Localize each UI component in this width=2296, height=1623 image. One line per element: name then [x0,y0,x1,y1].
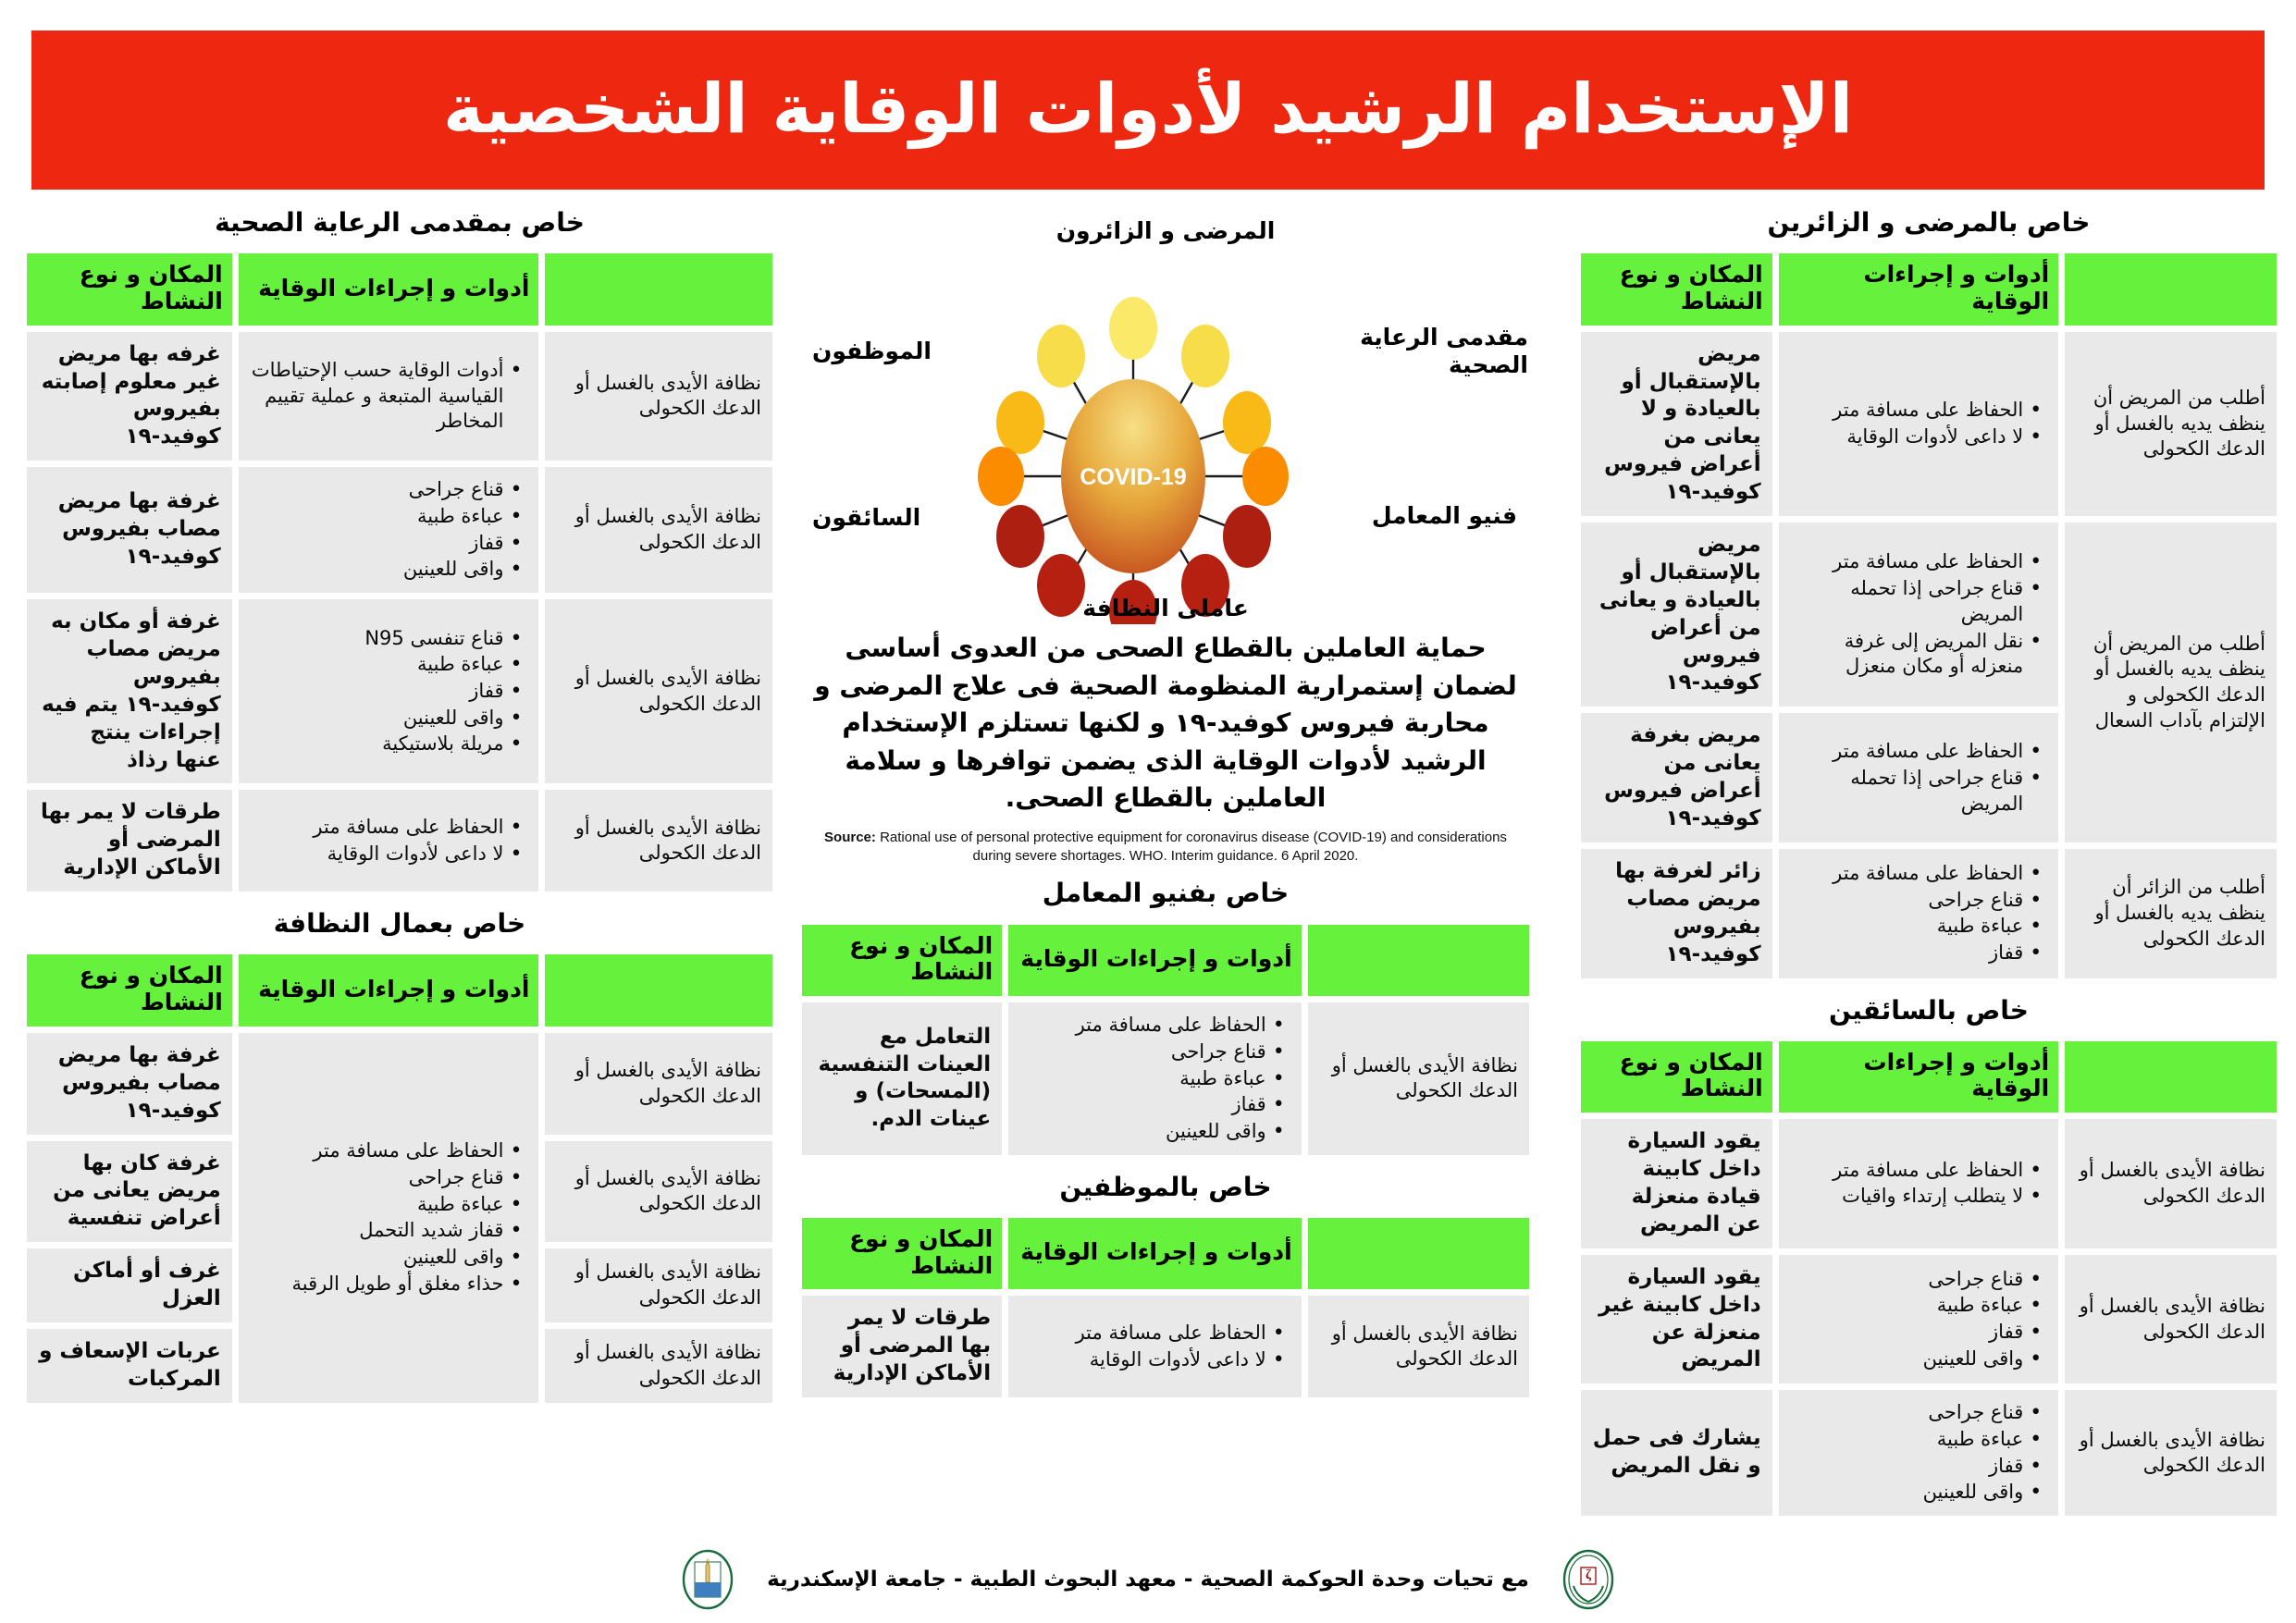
cell-ppe: الحفاظ على مسافة متر لا داعى لأدوات الوق… [1008,1296,1302,1397]
footer: ζ مع تحيات وحدة الحوكمة الصحية - معهد ال… [0,1549,2296,1610]
source-label: Source: [824,830,876,845]
header-activity: المكان و نوع النشاط [27,253,232,326]
table-row: نظافة الأيدى بالغسل أو الدعك الكحولى الح… [802,1296,1529,1397]
petal [1223,391,1271,454]
cell-activity: غرفه بها مريض غير معلوم إصابته بفيروس كو… [27,332,232,461]
ppe-list: قناع جراحى عباءة طبية قفاز واقى للعينين [1790,1400,2048,1506]
cell-ppe: الحفاظ على مسافة متر لا يتطلب إرتداء واق… [1779,1119,2059,1248]
cell-hand-hygiene: نظافة الأيدى بالغسل أو الدعك الكحولى [545,467,772,593]
ppe-item: عباءة طبية [250,652,504,678]
diagram-label-lab-technicians: فنيو المعامل [1341,502,1517,530]
table-row: أطلب من المريض أن ينظف يديه بالغسل أو ال… [1581,523,2277,707]
diagram-svg: COVID-19 [796,208,1536,624]
ppe-item: قناع جراحى [250,477,504,503]
ppe-item: لا داعى لأدوات الوقاية [1790,424,2024,450]
cell-activity: طرقات لا يمر بها المرضى أو الأماكن الإدا… [27,790,232,891]
table-row: نظافة الأيدى بالغسل أو الدعك الكحولى الح… [27,1033,772,1135]
header-activity: المكان و نوع النشاط [1581,253,1772,326]
medical-research-institute-logo: ζ [1562,1549,1614,1610]
section-title-staff: خاص بالموظفين [796,1173,1536,1202]
ppe-item: الحفاظ على مسافة متر [1790,398,2024,424]
ppe-item: عباءة طبية [1019,1066,1266,1092]
ppe-item: واقى للعينين [250,557,504,583]
ppe-item: مريلة بلاستيكية [250,732,504,757]
cell-ppe: الحفاظ على مسافة متر قناع جراحى عباءة طب… [1008,1002,1302,1155]
cell-hand-hygiene: نظافة الأيدى بالغسل أو الدعك الكحولى [545,1033,772,1135]
petal [1223,505,1271,568]
ppe-list: الحفاظ على مسافة متر قناع جراحى عباءة طب… [250,1138,528,1297]
ppe-item: واقى للعينين [250,706,504,732]
cell-ppe: قناع جراحى عباءة طبية قفاز واقى للعينين [1779,1255,2059,1384]
cell-ppe: الحفاظ على مسافة متر لا داعى لأدوات الوق… [1779,332,2059,516]
ppe-item: عباءة طبية [1790,1293,2024,1319]
ppe-item: الحفاظ على مسافة متر [1019,1321,1266,1346]
intro-paragraph: حماية العاملين بالقطاع الصحى من العدوى أ… [812,630,1519,818]
ppe-item: لا داعى لأدوات الوقاية [250,842,504,867]
ppe-item: قناع جراحى [1019,1039,1266,1065]
ppe-list: الحفاظ على مسافة متر لا داعى لأدوات الوق… [250,815,528,867]
header-activity: المكان و نوع النشاط [27,954,232,1027]
header-ppe: أدوات و إجراءات الوقاية [1779,253,2059,326]
header-blank [1308,925,1529,997]
cell-activity: غرفة كان بها مريض يعانى من أعراض تنفسية [27,1141,232,1243]
ppe-item: واقى للعينين [1790,1346,2024,1372]
cell-hand-hygiene: نظافة الأيدى بالغسل أو الدعك الكحولى [1308,1002,1529,1155]
ppe-item: واقى للعينين [250,1245,504,1271]
table-row: نظافة الأيدى بالغسل أو الدعك الكحولى قنا… [1581,1390,2277,1516]
header-activity: المكان و نوع النشاط [1581,1041,1772,1113]
table-header-row: أدوات و إجراءات الوقاية المكان و نوع الن… [27,954,772,1027]
petal [996,391,1044,454]
petal [1242,447,1289,506]
cell-hand-hygiene: نظافة الأيدى بالغسل أو الدعك الكحولى [2065,1390,2277,1516]
cell-ppe: الحفاظ على مسافة متر قناع جراحى إذا تحمل… [1779,523,2059,707]
diagram-label-staff: الموظفون [812,338,979,365]
cell-ppe: أدوات الوقاية حسب الإحتياطات القياسية ال… [239,332,539,461]
header-ppe: أدوات و إجراءات الوقاية [239,954,539,1027]
section-patients-visitors: خاص بالمرضى و الزائرين أدوات و إجراءات ا… [1574,208,2283,985]
ppe-item: الحفاظ على مسافة متر [1790,1158,2024,1184]
ppe-list: أدوات الوقاية حسب الإحتياطات القياسية ال… [250,358,528,435]
left-column: خاص بمقدمى الرعاية الصحية أدوات و إجراءا… [20,208,779,1420]
ppe-list: الحفاظ على مسافة متر لا داعى لأدوات الوق… [1019,1321,1290,1372]
cell-activity: مريض بغرفة يعانى من أعراض فيروس كوفيد-١٩ [1581,713,1772,842]
covid-core-label: COVID-19 [1080,464,1186,490]
table-header-row: أدوات و إجراءات الوقاية المكان و نوع الن… [802,1218,1529,1290]
ppe-item: الحفاظ على مسافة متر [1790,549,2024,575]
covid-hub-diagram: COVID-19 المرضى و الزائرون مقدمى الرعاية… [796,208,1536,624]
section-title-drivers: خاص بالسائقين [1574,996,2283,1026]
cell-activity: مريض بالإستقبال أو بالعيادة و لا يعانى م… [1581,332,1772,516]
section-staff: خاص بالموظفين أدوات و إجراءات الوقاية ال… [796,1173,1536,1404]
alexandria-university-logo [682,1549,734,1610]
cell-activity: زائر لغرفة بها مريض مصاب بفيروس كوفيد-١٩ [1581,849,1772,978]
table-row: نظافة الأيدى بالغسل أو الدعك الكحولى أدو… [27,332,772,461]
petal [1037,325,1085,387]
cell-hand-hygiene: نظافة الأيدى بالغسل أو الدعك الكحولى [545,790,772,891]
ppe-item: قناع تنفسى N95 [250,626,504,652]
ppe-list: الحفاظ على مسافة متر لا يتطلب إرتداء واق… [1790,1158,2048,1210]
cell-activity: يقود السيارة داخل كابينة غير منعزلة عن ا… [1581,1255,1772,1384]
header-blank [545,954,772,1027]
ppe-item: حذاء مغلق أو طويل الرقبة [250,1272,504,1297]
table-healthcare: أدوات و إجراءات الوقاية المكان و نوع الن… [20,247,779,898]
center-column: COVID-19 المرضى و الزائرون مقدمى الرعاية… [796,208,1536,1415]
section-cleaning-workers: خاص بعمال النظافة أدوات و إجراءات الوقاي… [20,909,779,1409]
cell-activity: مريض بالإستقبال أو بالعيادة و يعانى من أ… [1581,523,1772,707]
table-row: نظافة الأيدى بالغسل أو الدعك الكحولى الح… [1581,1119,2277,1248]
diagram-label-drivers: السائقون [812,504,979,532]
ppe-item: الحفاظ على مسافة متر [250,815,504,841]
ppe-item: عباءة طبية [250,1192,504,1218]
petal [996,505,1044,568]
ppe-item: قفاز [1790,1454,2024,1480]
ppe-list: قناع جراحى عباءة طبية قفاز واقى للعينين [250,477,528,583]
ppe-item: الحفاظ على مسافة متر [250,1138,504,1164]
section-title-healthcare: خاص بمقدمى الرعاية الصحية [20,208,779,238]
ppe-item: قفاز [250,679,504,705]
ppe-item: نقل المريض إلى غرفة منعزله أو مكان منعزل [1790,629,2024,680]
cell-hand-hygiene: نظافة الأيدى بالغسل أو الدعك الكحولى [545,599,772,783]
svg-text:ζ: ζ [1586,1568,1592,1582]
table-header-row: أدوات و إجراءات الوقاية المكان و نوع الن… [1581,253,2277,326]
diagram-label-cleaning-workers: عاملى النظافة [1008,595,1323,622]
cell-hand-hygiene: نظافة الأيدى بالغسل أو الدعك الكحولى [1308,1296,1529,1397]
table-row: أطلب من المريض أن ينظف يديه بالغسل أو ال… [1581,332,2277,516]
table-row: نظافة الأيدى بالغسل أو الدعك الكحولى الح… [27,790,772,891]
header-blank [1308,1218,1529,1290]
ppe-list: الحفاظ على مسافة متر قناع جراحى إذا تحمل… [1790,739,2048,817]
header-blank [545,253,772,326]
cell-activity: غرفة بها مريض مصاب بفيروس كوفيد-١٩ [27,1033,232,1135]
ppe-item: قناع جراحى إذا تحمله المريض [1790,576,2024,627]
header-activity: المكان و نوع النشاط [802,925,1002,997]
cell-activity: التعامل مع العينات التنفسية (المسحات) و … [802,1002,1002,1155]
table-lab: أدوات و إجراءات الوقاية المكان و نوع الن… [796,918,1536,1162]
diagram-label-patients-visitors: المرضى و الزائرون [1008,217,1323,245]
petal [1181,325,1229,387]
ppe-item: أدوات الوقاية حسب الإحتياطات القياسية ال… [250,358,504,435]
cell-activity: غرفة أو مكان به مريض مصاب بفيروس كوفيد-١… [27,599,232,783]
ppe-item: واقى للعينين [1790,1480,2024,1506]
header-ppe: أدوات و إجراءات الوقاية [1008,925,1302,997]
ppe-list: الحفاظ على مسافة متر لا داعى لأدوات الوق… [1790,398,2048,449]
cell-activity: عربات الإسعاف و المركبات [27,1329,232,1403]
section-drivers: خاص بالسائقين أدوات و إجراءات الوقاية ال… [1574,996,2283,1523]
petal [978,447,1024,506]
section-title-patients: خاص بالمرضى و الزائرين [1574,208,2283,238]
ppe-item: الحفاظ على مسافة متر [1790,739,2024,765]
table-row: نظافة الأيدى بالغسل أو الدعك الكحولى الح… [802,1002,1529,1155]
cell-hand-hygiene: أطلب من المريض أن ينظف يديه بالغسل أو ال… [2065,332,2277,516]
cell-hand-hygiene: نظافة الأيدى بالغسل أو الدعك الكحولى [2065,1119,2277,1248]
section-healthcare-providers: خاص بمقدمى الرعاية الصحية أدوات و إجراءا… [20,208,779,898]
header-ppe: أدوات و إجراءات الوقاية [1779,1041,2059,1113]
source-citation: Source: Rational use of personal protect… [823,829,1508,867]
table-header-row: أدوات و إجراءات الوقاية المكان و نوع الن… [1581,1041,2277,1113]
ppe-item: الحفاظ على مسافة متر [1790,861,2024,887]
header-ppe: أدوات و إجراءات الوقاية [239,253,539,326]
ppe-item: عباءة طبية [250,504,504,530]
ppe-item: قفاز [1019,1092,1266,1118]
cell-ppe: الحفاظ على مسافة متر قناع جراحى عباءة طب… [1779,849,2059,978]
table-header-row: أدوات و إجراءات الوقاية المكان و نوع الن… [802,925,1529,997]
ppe-item: واقى للعينين [1019,1119,1266,1145]
header-activity: المكان و نوع النشاط [802,1218,1002,1290]
page-title: الإستخدام الرشيد لأدوات الوقاية الشخصية [443,72,1853,147]
table-row: نظافة الأيدى بالغسل أو الدعك الكحولى قنا… [27,467,772,593]
cell-ppe: الحفاظ على مسافة متر لا داعى لأدوات الوق… [239,790,539,891]
cell-ppe: قناع تنفسى N95 عباءة طبية قفاز واقى للعي… [239,599,539,783]
ppe-list: الحفاظ على مسافة متر قناع جراحى عباءة طب… [1019,1013,1290,1145]
cell-ppe: الحفاظ على مسافة متر قناع جراحى إذا تحمل… [1779,713,2059,842]
section-title-cleaners: خاص بعمال النظافة [20,909,779,939]
cell-ppe-merged: الحفاظ على مسافة متر قناع جراحى عباءة طب… [239,1033,539,1403]
cell-hand-hygiene: نظافة الأيدى بالغسل أو الدعك الكحولى [2065,1255,2277,1384]
cell-hand-hygiene: نظافة الأيدى بالغسل أو الدعك الكحولى [545,1329,772,1403]
ppe-list: قناع جراحى عباءة طبية قفاز واقى للعينين [1790,1267,2048,1372]
title-banner: الإستخدام الرشيد لأدوات الوقاية الشخصية [31,31,2265,190]
header-blank [2065,1041,2277,1113]
ppe-list: قناع تنفسى N95 عباءة طبية قفاز واقى للعي… [250,626,528,758]
cell-hand-hygiene: نظافة الأيدى بالغسل أو الدعك الكحولى [545,332,772,461]
table-patients: أدوات و إجراءات الوقاية المكان و نوع الن… [1574,247,2283,984]
cell-activity: طرقات لا يمر بها المرضى أو الأماكن الإدا… [802,1296,1002,1397]
cell-hand-hygiene: نظافة الأيدى بالغسل أو الدعك الكحولى [545,1248,772,1322]
ppe-item: عباءة طبية [1790,914,2024,940]
cell-hand-hygiene: نظافة الأيدى بالغسل أو الدعك الكحولى [545,1141,772,1243]
cell-activity: يقود السيارة داخل كابينة قيادة منعزلة عن… [1581,1119,1772,1248]
cell-hand-hygiene: أطلب من الزائر أن ينظف يديه بالغسل أو ال… [2065,849,2277,978]
ppe-item: قناع جراحى [1790,1267,2024,1293]
cell-ppe: قناع جراحى عباءة طبية قفاز واقى للعينين [239,467,539,593]
ppe-list: الحفاظ على مسافة متر قناع جراحى عباءة طب… [1790,861,2048,966]
ppe-item: قفاز [1790,1320,2024,1346]
header-ppe: أدوات و إجراءات الوقاية [1008,1218,1302,1290]
ppe-item: قناع جراحى [1790,888,2024,914]
source-text: Rational use of personal protective equi… [876,830,1507,864]
cell-activity: غرف أو أماكن العزل [27,1248,232,1322]
header-blank [2065,253,2277,326]
ppe-item: لا داعى لأدوات الوقاية [1019,1347,1266,1373]
ppe-item: عباءة طبية [1790,1427,2024,1453]
table-drivers: أدوات و إجراءات الوقاية المكان و نوع الن… [1574,1035,2283,1523]
table-staff: أدوات و إجراءات الوقاية المكان و نوع الن… [796,1211,1536,1404]
cell-ppe: قناع جراحى عباءة طبية قفاز واقى للعينين [1779,1390,2059,1516]
cell-hand-hygiene-merged: أطلب من المريض أن ينظف يديه بالغسل أو ال… [2065,523,2277,842]
ppe-item: قناع جراحى إذا تحمله المريض [1790,766,2024,817]
section-title-lab: خاص بفنيو المعامل [796,879,1536,908]
table-row: نظافة الأيدى بالغسل أو الدعك الكحولى قنا… [1581,1255,2277,1384]
ppe-item: قناع جراحى [1790,1400,2024,1426]
footer-text: مع تحيات وحدة الحوكمة الصحية - معهد البح… [767,1568,1529,1592]
ppe-list: الحفاظ على مسافة متر قناع جراحى إذا تحمل… [1790,549,2048,680]
ppe-item: الحفاظ على مسافة متر [1019,1013,1266,1039]
ppe-item: قفاز شديد التحمل [250,1218,504,1244]
right-column: خاص بالمرضى و الزائرين أدوات و إجراءات ا… [1574,208,2283,1533]
ppe-item: لا يتطلب إرتداء واقيات [1790,1184,2024,1210]
table-cleaners: أدوات و إجراءات الوقاية المكان و نوع الن… [20,948,779,1408]
table-header-row: أدوات و إجراءات الوقاية المكان و نوع الن… [27,253,772,326]
ppe-item: قفاز [1790,941,2024,966]
cell-activity: يشارك فى حمل و نقل المريض [1581,1390,1772,1516]
diagram-label-healthcare-providers: مقدمى الرعاية الصحية [1343,324,1528,379]
table-row: نظافة الأيدى بالغسل أو الدعك الكحولى قنا… [27,599,772,783]
ppe-item: قناع جراحى [250,1165,504,1191]
table-row: أطلب من الزائر أن ينظف يديه بالغسل أو ال… [1581,849,2277,978]
petal [1109,297,1157,360]
section-lab-technicians: خاص بفنيو المعامل أدوات و إجراءات الوقاي… [796,879,1536,1161]
ppe-item: قفاز [250,531,504,557]
cell-activity: غرفة بها مريض مصاب بفيروس كوفيد-١٩ [27,467,232,593]
